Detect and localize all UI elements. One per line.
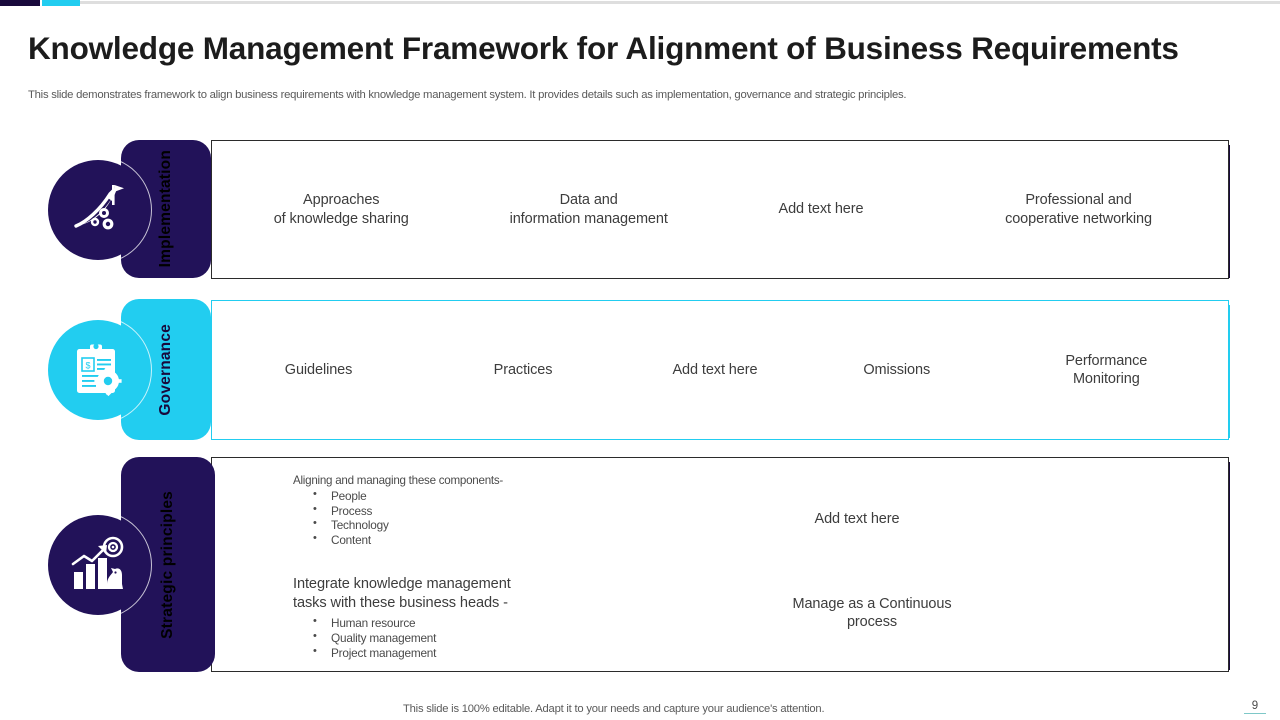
list-item: Process [293, 504, 623, 519]
cell: Approaches of knowledge sharing [215, 191, 468, 228]
cell: Omissions [806, 361, 988, 379]
row-implementation-icon-circle [48, 160, 148, 260]
list-item: Technology [293, 518, 623, 533]
cell: Add text here [624, 361, 806, 379]
block-2-list: Human resource Quality management Projec… [293, 616, 633, 660]
list-item: Project management [293, 646, 633, 661]
accent-segment-grey-rule [80, 1, 1280, 4]
cell: Professional and cooperative networking [932, 191, 1225, 228]
top-accent-bar [0, 0, 1280, 6]
cell: Add text here [710, 200, 932, 218]
row-governance-icon-circle: $ [48, 320, 148, 420]
list-item: Content [293, 533, 623, 548]
list-item: Human resource [293, 616, 633, 631]
page-subtitle: This slide demonstrates framework to ali… [28, 89, 906, 101]
row-governance-label: Governance [157, 324, 175, 416]
block-1-lead: Aligning and managing these components- [293, 474, 623, 487]
row-strategic-principles-label: Strategic principles [159, 491, 177, 639]
slide: Knowledge Management Framework for Align… [0, 0, 1280, 720]
accent-segment-cyan [42, 0, 80, 6]
row-strategic-principles-right-1: Add text here [757, 510, 957, 528]
rocket-growth-gears-icon [68, 180, 128, 240]
page-number-rule [1244, 713, 1266, 714]
block-1-list: People Process Technology Content [293, 489, 623, 548]
bar-chart-target-knight-icon [67, 534, 129, 596]
row-implementation-cells: Approaches of knowledge sharing Data and… [215, 140, 1225, 279]
row-strategic-principles-right-2: Manage as a Continuous process [772, 595, 972, 632]
accent-segment-navy [0, 0, 40, 6]
list-item: People [293, 489, 623, 504]
row-governance-cells: Guidelines Practices Add text here Omiss… [215, 300, 1225, 440]
row-strategic-principles-block-2: Integrate knowledge management tasks wit… [293, 575, 633, 660]
clipboard-gear-icon: $ [69, 341, 127, 399]
footer-note: This slide is 100% editable. Adapt it to… [403, 703, 824, 715]
row-implementation-label: Implementation [157, 150, 175, 267]
row-strategic-principles-icon-circle [48, 515, 148, 615]
cell: Performance Monitoring [988, 352, 1225, 389]
cell: Data and information management [468, 191, 710, 228]
row-strategic-principles-block-1: Aligning and managing these components- … [293, 474, 623, 548]
page-title: Knowledge Management Framework for Align… [28, 30, 1179, 67]
page-number: 9 [1244, 700, 1266, 714]
svg-text:$: $ [85, 361, 90, 371]
page-number-value: 9 [1244, 700, 1266, 712]
list-item: Quality management [293, 631, 633, 646]
cell: Guidelines [215, 361, 422, 379]
cell: Practices [422, 361, 624, 379]
block-2-lead: Integrate knowledge management tasks wit… [293, 575, 633, 612]
